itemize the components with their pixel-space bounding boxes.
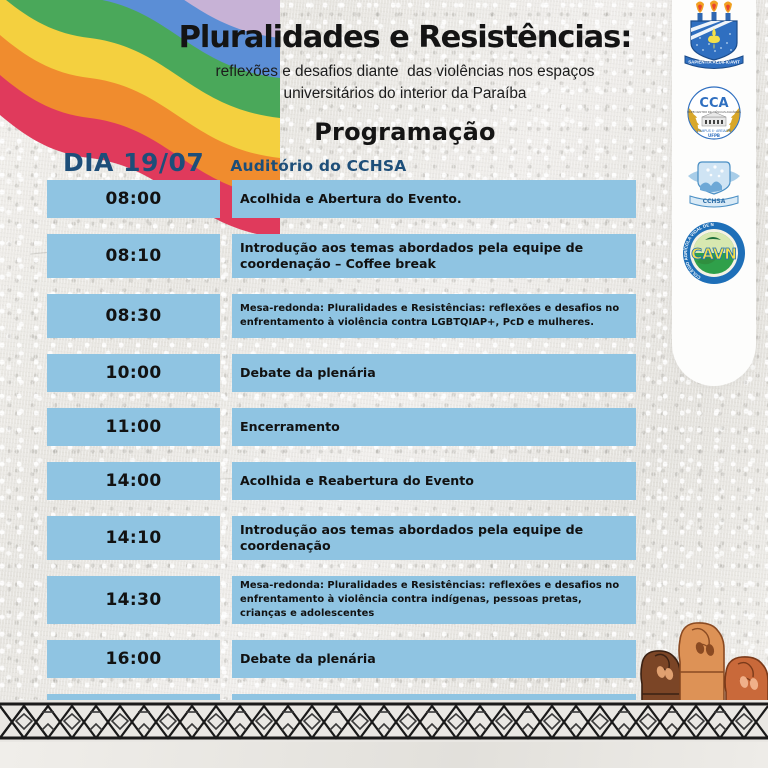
subtitle-line-1: reflexões e desafios diante das violênci… xyxy=(215,63,594,80)
schedule-time-cell: 14:30 xyxy=(47,576,220,624)
cchsa-logo: CCHSA xyxy=(684,156,744,210)
schedule-cell-gap xyxy=(220,408,232,446)
schedule-description-cell: Encerramento xyxy=(232,408,636,446)
schedule-cell-gap xyxy=(220,576,232,624)
cca-logo-sub: UFPB xyxy=(708,133,720,138)
section-title-programacao: Programação xyxy=(150,118,660,146)
cca-logo-text: CCA xyxy=(699,96,728,111)
schedule-table: 08:00Acolhida e Abertura do Evento.08:10… xyxy=(47,180,636,748)
schedule-description-cell: Mesa-redonda: Pluralidades e Resistência… xyxy=(232,294,636,338)
day-label: DIA 19/07 xyxy=(63,148,204,177)
schedule-time-cell: 10:00 xyxy=(47,354,220,392)
day-and-venue-row: DIA 19/07 Auditório do CCHSA xyxy=(63,148,643,177)
schedule-description-cell: Introdução aos temas abordados pela equi… xyxy=(232,516,636,560)
schedule-description-cell: Debate da plenária xyxy=(232,640,636,678)
schedule-time-cell: 08:00 xyxy=(47,180,220,218)
schedule-cell-gap xyxy=(220,234,232,278)
schedule-description-cell: Debate da plenária xyxy=(232,354,636,392)
schedule-cell-gap xyxy=(220,462,232,500)
cca-logo: CCA UFPB CENTRO DE CIÊNCIAS AGRÁRIAS CAM… xyxy=(679,80,749,146)
schedule-cell-gap xyxy=(220,516,232,560)
cavn-logo-text: CAVN xyxy=(691,245,737,263)
poster-header: Pluralidades e Resistências: reflexões e… xyxy=(150,22,660,146)
schedule-cell-gap xyxy=(220,180,232,218)
ufpb-coat-of-arms-logo: SAPIENTIA AEDIFICAVIT xyxy=(681,0,747,70)
bottom-paper-strip xyxy=(0,742,768,768)
coat-of-arms-motto: SAPIENTIA AEDIFICAVIT xyxy=(688,60,740,65)
logo-strip: SAPIENTIA AEDIFICAVIT CCA UFPB CENTRO DE… xyxy=(672,0,756,386)
schedule-row: 10:00Debate da plenária xyxy=(47,354,636,392)
schedule-row: 14:30Mesa-redonda: Pluralidades e Resist… xyxy=(47,576,636,624)
cchsa-logo-text: CCHSA xyxy=(703,198,726,205)
subtitle-line-2: universitários do interior da Paraíba xyxy=(284,85,527,102)
schedule-time-cell: 08:10 xyxy=(47,234,220,278)
schedule-time-cell: 11:00 xyxy=(47,408,220,446)
schedule-row: 16:00Debate da plenária xyxy=(47,640,636,678)
poster-subtitle: reflexões e desafios diante das violênci… xyxy=(150,61,660,105)
schedule-time-cell: 16:00 xyxy=(47,640,220,678)
schedule-row: 14:10Introdução aos temas abordados pela… xyxy=(47,516,636,560)
schedule-description-cell: Mesa-redonda: Pluralidades e Resistência… xyxy=(232,576,636,624)
schedule-row: 08:10Introdução aos temas abordados pela… xyxy=(47,234,636,278)
cavn-logo: CAVN COLÉGIO AGRÍCOLA VIDAL DE NEGREIROS xyxy=(681,220,747,286)
schedule-description-cell: Acolhida e Abertura do Evento. xyxy=(232,180,636,218)
schedule-cell-gap xyxy=(220,640,232,678)
schedule-row: 11:00Encerramento xyxy=(47,408,636,446)
schedule-row: 08:30Mesa-redonda: Pluralidades e Resist… xyxy=(47,294,636,338)
schedule-cell-gap xyxy=(220,354,232,392)
schedule-time-cell: 08:30 xyxy=(47,294,220,338)
schedule-row: 14:00Acolhida e Reabertura do Evento xyxy=(47,462,636,500)
poster-main-title: Pluralidades e Resistências: xyxy=(150,22,660,54)
indigenous-border-pattern xyxy=(0,700,768,742)
poster-canvas: SAPIENTIA AEDIFICAVIT CCA UFPB CENTRO DE… xyxy=(0,0,768,768)
schedule-row: 08:00Acolhida e Abertura do Evento. xyxy=(47,180,636,218)
venue-label: Auditório do CCHSA xyxy=(230,157,406,175)
schedule-description-cell: Introdução aos temas abordados pela equi… xyxy=(232,234,636,278)
schedule-time-cell: 14:10 xyxy=(47,516,220,560)
schedule-time-cell: 14:00 xyxy=(47,462,220,500)
schedule-cell-gap xyxy=(220,294,232,338)
schedule-description-cell: Acolhida e Reabertura do Evento xyxy=(232,462,636,500)
